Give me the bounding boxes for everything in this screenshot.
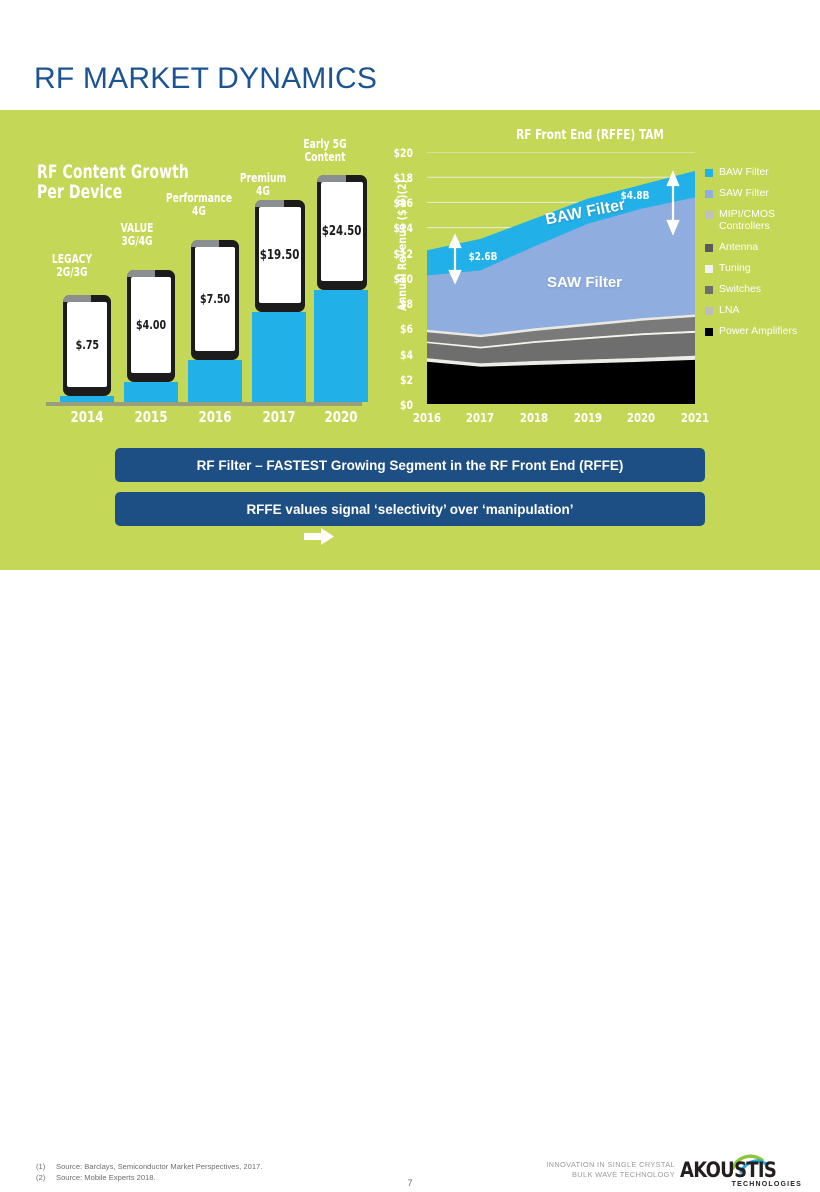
x-tick-2021: 2021 bbox=[674, 410, 715, 425]
legend-label-power-amplifiers: Power Amplifiers bbox=[719, 325, 797, 337]
device-x-label-4: 2020 bbox=[310, 408, 372, 426]
device-value-label-3: $19.50 bbox=[260, 248, 300, 263]
legend-item-switches[interactable]: Switches bbox=[705, 283, 810, 295]
legend-label-mipi-cmos-controllers: MIPI/CMOS Controllers bbox=[719, 208, 810, 232]
device-bar-0 bbox=[60, 396, 114, 402]
logo-subtext: TECHNOLOGIES bbox=[732, 1181, 802, 1188]
y-tick-16: $16 bbox=[382, 196, 413, 210]
device-phone-2: $7.50 bbox=[191, 240, 239, 360]
y-tick-8: $8 bbox=[382, 297, 413, 311]
y-tick-2: $2 bbox=[382, 373, 413, 387]
legend-item-lna[interactable]: LNA bbox=[705, 304, 810, 316]
band-label-saw-filter: SAW Filter bbox=[547, 274, 622, 291]
area-power-amplifiers bbox=[427, 360, 695, 404]
legend-item-tuning[interactable]: Tuning bbox=[705, 262, 810, 274]
title-bar: RF MARKET DYNAMICS bbox=[0, 0, 820, 110]
legend-swatch-tuning bbox=[705, 265, 713, 273]
callout-banner-1: RF Filter – FASTEST Growing Segment in t… bbox=[115, 448, 705, 482]
x-tick-2017: 2017 bbox=[459, 410, 500, 425]
footnote-1: (1)Source: Barclays, Semiconductor Marke… bbox=[36, 1162, 262, 1171]
brand-tagline-line2: BULK WAVE TECHNOLOGY bbox=[546, 1170, 675, 1180]
slide-root: RF MARKET DYNAMICS RF Content Growth Per… bbox=[0, 0, 820, 634]
page-title: RF MARKET DYNAMICS bbox=[34, 62, 377, 96]
device-bar-3 bbox=[252, 312, 306, 402]
device-bar-4 bbox=[314, 290, 368, 402]
legend-item-power-amplifiers[interactable]: Power Amplifiers bbox=[705, 325, 810, 337]
slide-footer: (1)Source: Barclays, Semiconductor Marke… bbox=[0, 570, 820, 634]
legend-label-switches: Switches bbox=[719, 283, 761, 295]
footnote-1-text: Source: Barclays, Semiconductor Market P… bbox=[56, 1162, 262, 1171]
annotation-label-2-6b: $2.6B bbox=[469, 250, 498, 263]
legend-label-lna: LNA bbox=[719, 304, 739, 316]
y-tick-18: $18 bbox=[382, 171, 413, 185]
x-tick-2020: 2020 bbox=[620, 410, 661, 425]
legend-label-antenna: Antenna bbox=[719, 241, 758, 253]
x-tick-2018: 2018 bbox=[513, 410, 554, 425]
device-category-label-0: LEGACY 2G/3G bbox=[36, 253, 107, 279]
device-bar-1 bbox=[124, 382, 178, 402]
y-tick-14: $14 bbox=[382, 221, 413, 235]
phone-screen-1: $4.00 bbox=[131, 277, 171, 373]
phone-top-edge-2 bbox=[191, 240, 219, 247]
device-chart-baseline bbox=[46, 402, 362, 406]
callout-banner-2: RFFE values signal ‘selectivity’ over ‘m… bbox=[115, 492, 705, 526]
device-value-label-0: $.75 bbox=[75, 338, 98, 352]
y-tick-4: $4 bbox=[382, 348, 413, 362]
device-category-label-2: Performance 4G bbox=[163, 192, 234, 218]
x-tick-2016: 2016 bbox=[406, 410, 447, 425]
legend-label-saw-filter: SAW Filter bbox=[719, 187, 769, 199]
brand-tagline-line1: INNOVATION IN SINGLE CRYSTAL bbox=[546, 1160, 675, 1170]
chart-legend: BAW Filter SAW Filter MIPI/CMOS Controll… bbox=[705, 166, 810, 346]
device-phone-4: $24.50 bbox=[317, 175, 367, 290]
y-tick-12: $12 bbox=[382, 247, 413, 261]
phone-screen-3: $19.50 bbox=[259, 207, 301, 303]
legend-swatch-baw-filter bbox=[705, 169, 713, 177]
phone-screen-0: $.75 bbox=[67, 302, 107, 387]
device-value-label-4: $24.50 bbox=[322, 224, 362, 239]
transition-arrow-icon bbox=[304, 528, 334, 545]
legend-swatch-mipi-cmos-controllers bbox=[705, 211, 713, 219]
akoustis-logo: AKOUSTIS TECHNOLOGIES bbox=[680, 1158, 802, 1192]
phone-top-edge-1 bbox=[127, 270, 155, 277]
device-category-label-1: VALUE 3G/4G bbox=[101, 222, 172, 248]
footnote-1-number: (1) bbox=[36, 1162, 56, 1171]
device-phone-3: $19.50 bbox=[255, 200, 305, 312]
device-phone-1: $4.00 bbox=[127, 270, 175, 382]
device-x-label-1: 2015 bbox=[120, 408, 182, 426]
y-tick-6: $6 bbox=[382, 322, 413, 336]
legend-swatch-saw-filter bbox=[705, 190, 713, 198]
phone-top-edge-0 bbox=[63, 295, 91, 302]
chart-plot-area: BAW Filter SAW Filter $2.6B $4.8B bbox=[427, 152, 695, 404]
phone-screen-4: $24.50 bbox=[321, 182, 363, 281]
device-category-label-3: Premium 4G bbox=[227, 172, 298, 198]
device-bar-2 bbox=[188, 360, 242, 402]
legend-swatch-antenna bbox=[705, 244, 713, 252]
phone-top-edge-3 bbox=[255, 200, 284, 207]
legend-item-mipi-cmos-controllers[interactable]: MIPI/CMOS Controllers bbox=[705, 208, 810, 232]
annotation-label-4-8b: $4.8B bbox=[621, 189, 650, 202]
brand-tagline: INNOVATION IN SINGLE CRYSTAL BULK WAVE T… bbox=[546, 1160, 675, 1179]
device-x-label-3: 2017 bbox=[248, 408, 310, 426]
y-tick-10: $10 bbox=[382, 272, 413, 286]
logo-wordmark: AKOUSTIS bbox=[680, 1158, 776, 1182]
legend-item-antenna[interactable]: Antenna bbox=[705, 241, 810, 253]
legend-item-baw-filter[interactable]: BAW Filter bbox=[705, 166, 810, 178]
legend-swatch-power-amplifiers bbox=[705, 328, 713, 336]
legend-swatch-lna bbox=[705, 307, 713, 315]
y-tick-20: $20 bbox=[382, 146, 413, 160]
legend-swatch-switches bbox=[705, 286, 713, 294]
phone-top-edge-4 bbox=[317, 175, 346, 182]
device-content-chart: LEGACY 2G/3G $.75 2014 VALUE 3G/4G $4.00… bbox=[30, 130, 370, 430]
device-category-label-4: Early 5G Content bbox=[289, 138, 360, 164]
legend-label-tuning: Tuning bbox=[719, 262, 751, 274]
device-value-label-2: $7.50 bbox=[200, 292, 230, 306]
chart-title: RF Front End (RFFE) TAM bbox=[455, 128, 725, 143]
phone-screen-2: $7.50 bbox=[195, 247, 235, 351]
legend-item-saw-filter[interactable]: SAW Filter bbox=[705, 187, 810, 199]
device-x-label-2: 2016 bbox=[184, 408, 246, 426]
device-value-label-1: $4.00 bbox=[136, 318, 166, 332]
rffe-tam-chart: RF Front End (RFFE) TAM Annual Revenue (… bbox=[375, 128, 815, 430]
legend-label-baw-filter: BAW Filter bbox=[719, 166, 769, 178]
device-phone-0: $.75 bbox=[63, 295, 111, 396]
device-x-label-0: 2014 bbox=[56, 408, 118, 426]
x-tick-2019: 2019 bbox=[567, 410, 608, 425]
